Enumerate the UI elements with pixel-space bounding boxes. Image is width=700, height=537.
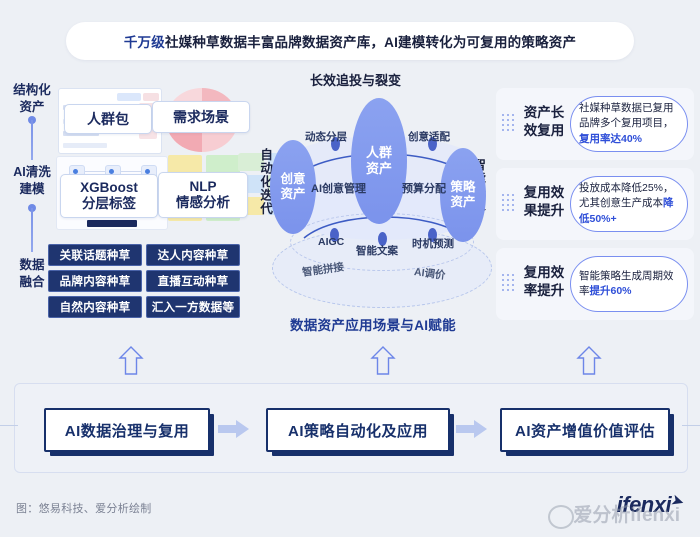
step-ai-data-governance[interactable]: AI数据治理与复用 bbox=[44, 408, 210, 452]
card-reuse-effect-improve-label: 复用效 果提升 bbox=[520, 184, 568, 220]
label-budget-allocation: 预算分配 bbox=[402, 180, 446, 196]
up-arrow-icon-2 bbox=[370, 345, 396, 375]
tag-demand-scenario-label: 需求场景 bbox=[173, 109, 229, 125]
center-top-title: 长效追投与裂变 bbox=[310, 70, 401, 89]
label-smart-copy: 智能文案 bbox=[356, 243, 398, 258]
fusion-box-4-label: 自然内容种草 bbox=[60, 299, 131, 315]
band-rule-left bbox=[0, 425, 18, 426]
tag-nlp-label: NLP 情感分析 bbox=[176, 179, 230, 210]
card-reuse-effect-improve-bubble: 投放成本降低25%，尤其创意生产成本降低50%+ bbox=[570, 176, 688, 232]
up-arrow-icon-3 bbox=[576, 345, 602, 375]
dot-grid-icon bbox=[502, 194, 518, 214]
axis-label-structured: 结构化资产 bbox=[4, 82, 60, 116]
card-reuse-efficiency-improve-label: 复用效 率提升 bbox=[520, 264, 568, 300]
fusion-box-3: 直播互动种草 bbox=[146, 270, 240, 292]
axis-connector-2 bbox=[31, 208, 33, 252]
tag-nlp: NLP 情感分析 bbox=[158, 172, 248, 218]
tag-xgboost-label: XGBoost 分层标签 bbox=[80, 180, 138, 211]
fusion-box-2-label: 品牌内容种草 bbox=[60, 273, 131, 289]
axis-label-ai-cleaning: AI清洗建模 bbox=[4, 164, 60, 198]
fusion-box-1-label: 达人内容种草 bbox=[158, 247, 229, 263]
card-asset-long-term-reuse-label: 资产长 效复用 bbox=[520, 104, 568, 140]
card-2-highlight: 提升60% bbox=[590, 285, 632, 297]
card-asset-long-term-reuse-bubble: 社媒种草数据已复用品牌多个复用项目，复用率达40% bbox=[570, 96, 688, 152]
source-credit: 图：悠易科技、爱分析绘制 bbox=[16, 500, 152, 516]
axis-connector-1 bbox=[31, 120, 33, 160]
label-aigc: AIGC bbox=[318, 236, 344, 248]
up-arrow-icon-1 bbox=[118, 345, 144, 375]
pillar-crowd-asset-label: 人群 资产 bbox=[366, 145, 392, 176]
card-1-text: 投放成本降低25%，尤其创意生产成本 bbox=[579, 182, 674, 209]
dot-grid-icon bbox=[502, 114, 518, 134]
label-ai-creative-management: AI创意管理 bbox=[311, 180, 366, 196]
step-ai-strategy-automation[interactable]: AI策略自动化及应用 bbox=[266, 408, 450, 452]
label-creative-adaptation: 创意适配 bbox=[408, 129, 450, 144]
card-reuse-efficiency-improve-bubble: 智能策略生成周期效率提升60% bbox=[570, 256, 688, 312]
label-dynamic-layering: 动态分层 bbox=[305, 129, 347, 144]
fusion-box-4: 自然内容种草 bbox=[48, 296, 142, 318]
step-arrow-icon-2 bbox=[456, 420, 488, 438]
tag-crowd-pack-label: 人群包 bbox=[87, 111, 129, 127]
card-0-text: 社媒种草数据已复用品牌多个复用项目， bbox=[579, 102, 674, 129]
card-asset-long-term-reuse: 资产长 效复用 社媒种草数据已复用品牌多个复用项目，复用率达40% bbox=[496, 88, 694, 160]
fusion-box-5-label: 汇入一方数据等 bbox=[152, 299, 235, 315]
pillar-strategy-asset-label: 策略 资产 bbox=[450, 180, 475, 210]
fusion-box-0-label: 关联话题种草 bbox=[60, 247, 131, 263]
step-ai-asset-valuation[interactable]: AI资产增值价值评估 bbox=[500, 408, 670, 452]
band-rule-right bbox=[682, 425, 700, 426]
fusion-box-1: 达人内容种草 bbox=[146, 244, 240, 266]
step-ai-strategy-automation-label: AI策略自动化及应用 bbox=[288, 420, 428, 441]
pillar-strategy-asset: 策略 资产 bbox=[440, 148, 486, 242]
card-0-highlight: 复用率达40% bbox=[579, 133, 642, 145]
step-ai-asset-valuation-label: AI资产增值价值评估 bbox=[515, 420, 655, 441]
page-title: 千万级社媒种草数据丰富品牌数据资产库，AI建模转化为可复用的策略资产 bbox=[124, 31, 576, 51]
infographic-canvas: 千万级社媒种草数据丰富品牌数据资产库，AI建模转化为可复用的策略资产 结构化资产… bbox=[0, 0, 700, 537]
label-timing-prediction: 时机预测 bbox=[412, 236, 454, 251]
pillar-crowd-asset: 人群 资产 bbox=[351, 98, 407, 224]
center-bottom-title: 数据资产应用场景与AI赋能 bbox=[290, 314, 456, 334]
pillar-creative-asset: 创意 资产 bbox=[270, 140, 316, 234]
step-ai-data-governance-label: AI数据治理与复用 bbox=[65, 420, 190, 441]
step-arrow-icon-1 bbox=[218, 420, 250, 438]
tag-crowd-pack: 人群包 bbox=[64, 104, 152, 134]
fusion-box-3-label: 直播互动种草 bbox=[158, 273, 229, 289]
fusion-box-5: 汇入一方数据等 bbox=[146, 296, 240, 318]
tag-demand-scenario: 需求场景 bbox=[152, 101, 250, 133]
page-title-highlight: 千万级 bbox=[124, 35, 165, 50]
page-title-pill: 千万级社媒种草数据丰富品牌数据资产库，AI建模转化为可复用的策略资产 bbox=[66, 22, 634, 60]
weibo-watermark-icon bbox=[548, 505, 574, 529]
pillar-creative-asset-label: 创意 资产 bbox=[280, 172, 305, 202]
card-reuse-efficiency-improve: 复用效 率提升 智能策略生成周期效率提升60% bbox=[496, 248, 694, 320]
fusion-box-0: 关联话题种草 bbox=[48, 244, 142, 266]
tag-xgboost: XGBoost 分层标签 bbox=[60, 174, 158, 218]
fusion-box-2: 品牌内容种草 bbox=[48, 270, 142, 292]
page-title-rest: 社媒种草数据丰富品牌数据资产库，AI建模转化为可复用的策略资产 bbox=[165, 35, 576, 50]
card-reuse-effect-improve: 复用效 果提升 投放成本降低25%，尤其创意生产成本降低50%+ bbox=[496, 168, 694, 240]
dot-grid-icon bbox=[502, 274, 518, 294]
weibo-watermark-text: 爱分析ifenxi bbox=[573, 500, 680, 527]
